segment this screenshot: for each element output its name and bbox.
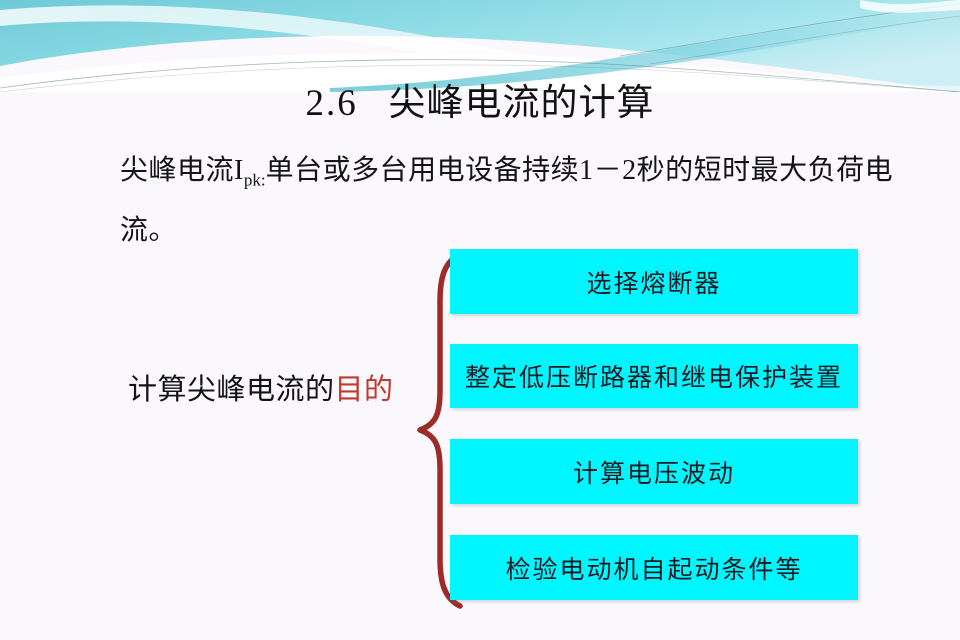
purpose-box-4-label: 检验电动机自起动条件等: [505, 550, 802, 586]
title-spacer: [368, 83, 378, 124]
slide-canvas: 2.6 尖峰电流的计算 尖峰电流Ipk:单台或多台用电设备持续1－2秒的短时最大…: [0, 0, 960, 640]
purpose-label: 计算尖峰电流的目的: [128, 366, 394, 408]
purpose-label-plain: 计算尖峰电流的: [128, 374, 335, 406]
definition-paragraph: 尖峰电流Ipk:单台或多台用电设备持续1－2秒的短时最大负荷电流。: [120, 146, 910, 256]
purpose-box-3-label: 计算电压波动: [573, 454, 735, 490]
purpose-label-accent: 目的: [335, 374, 394, 406]
definition-subscript: pk:: [244, 171, 266, 190]
purpose-box-1[interactable]: 选择熔断器: [450, 249, 858, 314]
title-text: 尖峰电流的计算: [389, 83, 655, 124]
purpose-box-2[interactable]: 整定低压断路器和继电保护装置: [450, 344, 858, 408]
definition-lead: 尖峰电流I: [120, 155, 244, 186]
purpose-box-2-label: 整定低压断路器和继电保护装置: [465, 358, 843, 394]
purpose-box-1-label: 选择熔断器: [586, 264, 721, 300]
title-number: 2.6: [306, 83, 358, 124]
purpose-box-4[interactable]: 检验电动机自起动条件等: [450, 535, 858, 600]
purpose-box-3[interactable]: 计算电压波动: [450, 439, 858, 504]
page-title: 2.6 尖峰电流的计算: [0, 72, 960, 126]
